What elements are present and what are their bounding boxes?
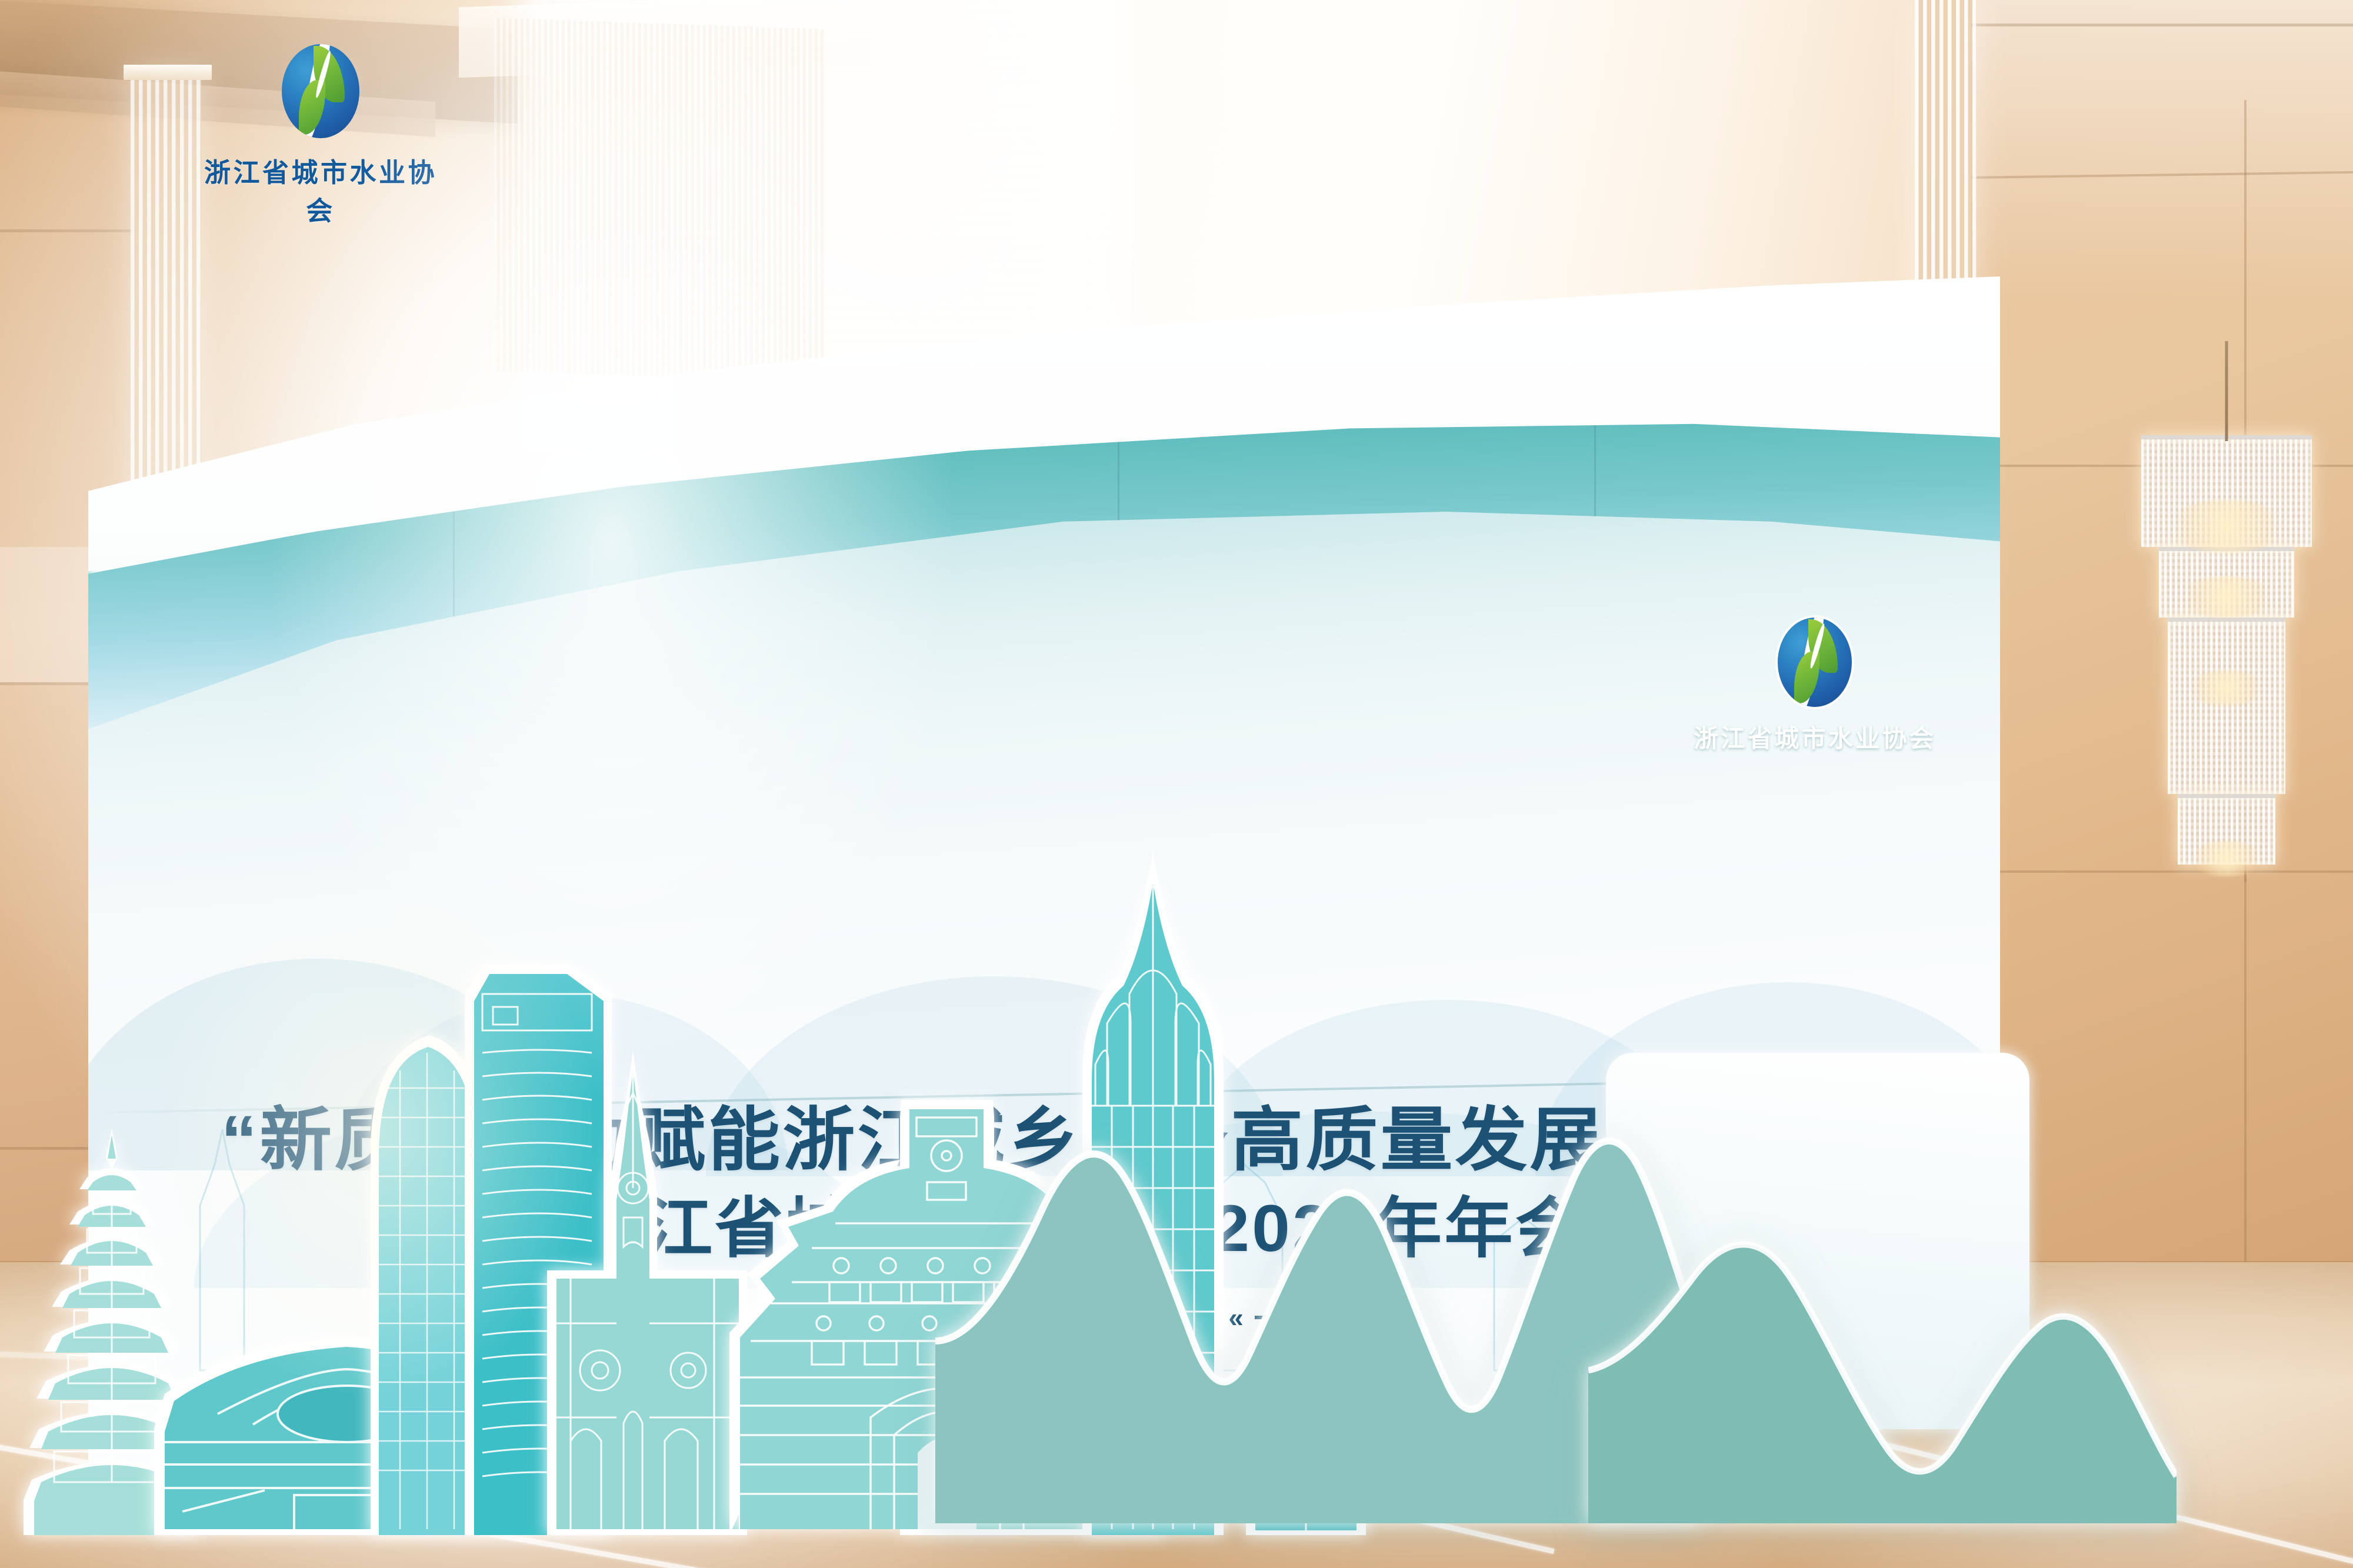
water-association-logo-icon	[1778, 618, 1852, 707]
header-logo-text: 浙江省城市水业协会	[194, 151, 447, 228]
screenshot-root: “新质生产力赋能浙江城乡水务高质量发展”研讨会 暨浙江省城市水业协会2024年年…	[0, 0, 2353, 1568]
wall-grout-line	[1971, 870, 2353, 873]
mountain-range-front	[935, 1065, 1700, 1523]
water-association-logo-icon	[282, 44, 359, 138]
chandelier-rod	[2225, 341, 2228, 441]
crystal-chandelier-icon	[2141, 435, 2312, 865]
backdrop-association-logo: 浙江省城市水业协会	[1688, 618, 1941, 755]
mountain-range-right	[1588, 1194, 2177, 1523]
header-association-logo: 浙江省城市水业协会	[194, 44, 447, 228]
wall-grout-line	[1971, 24, 2353, 26]
backdrop-logo-text: 浙江省城市水业协会	[1688, 719, 1941, 755]
right-wall-sheen	[1971, 0, 2353, 306]
chandelier-tier	[2168, 618, 2285, 794]
